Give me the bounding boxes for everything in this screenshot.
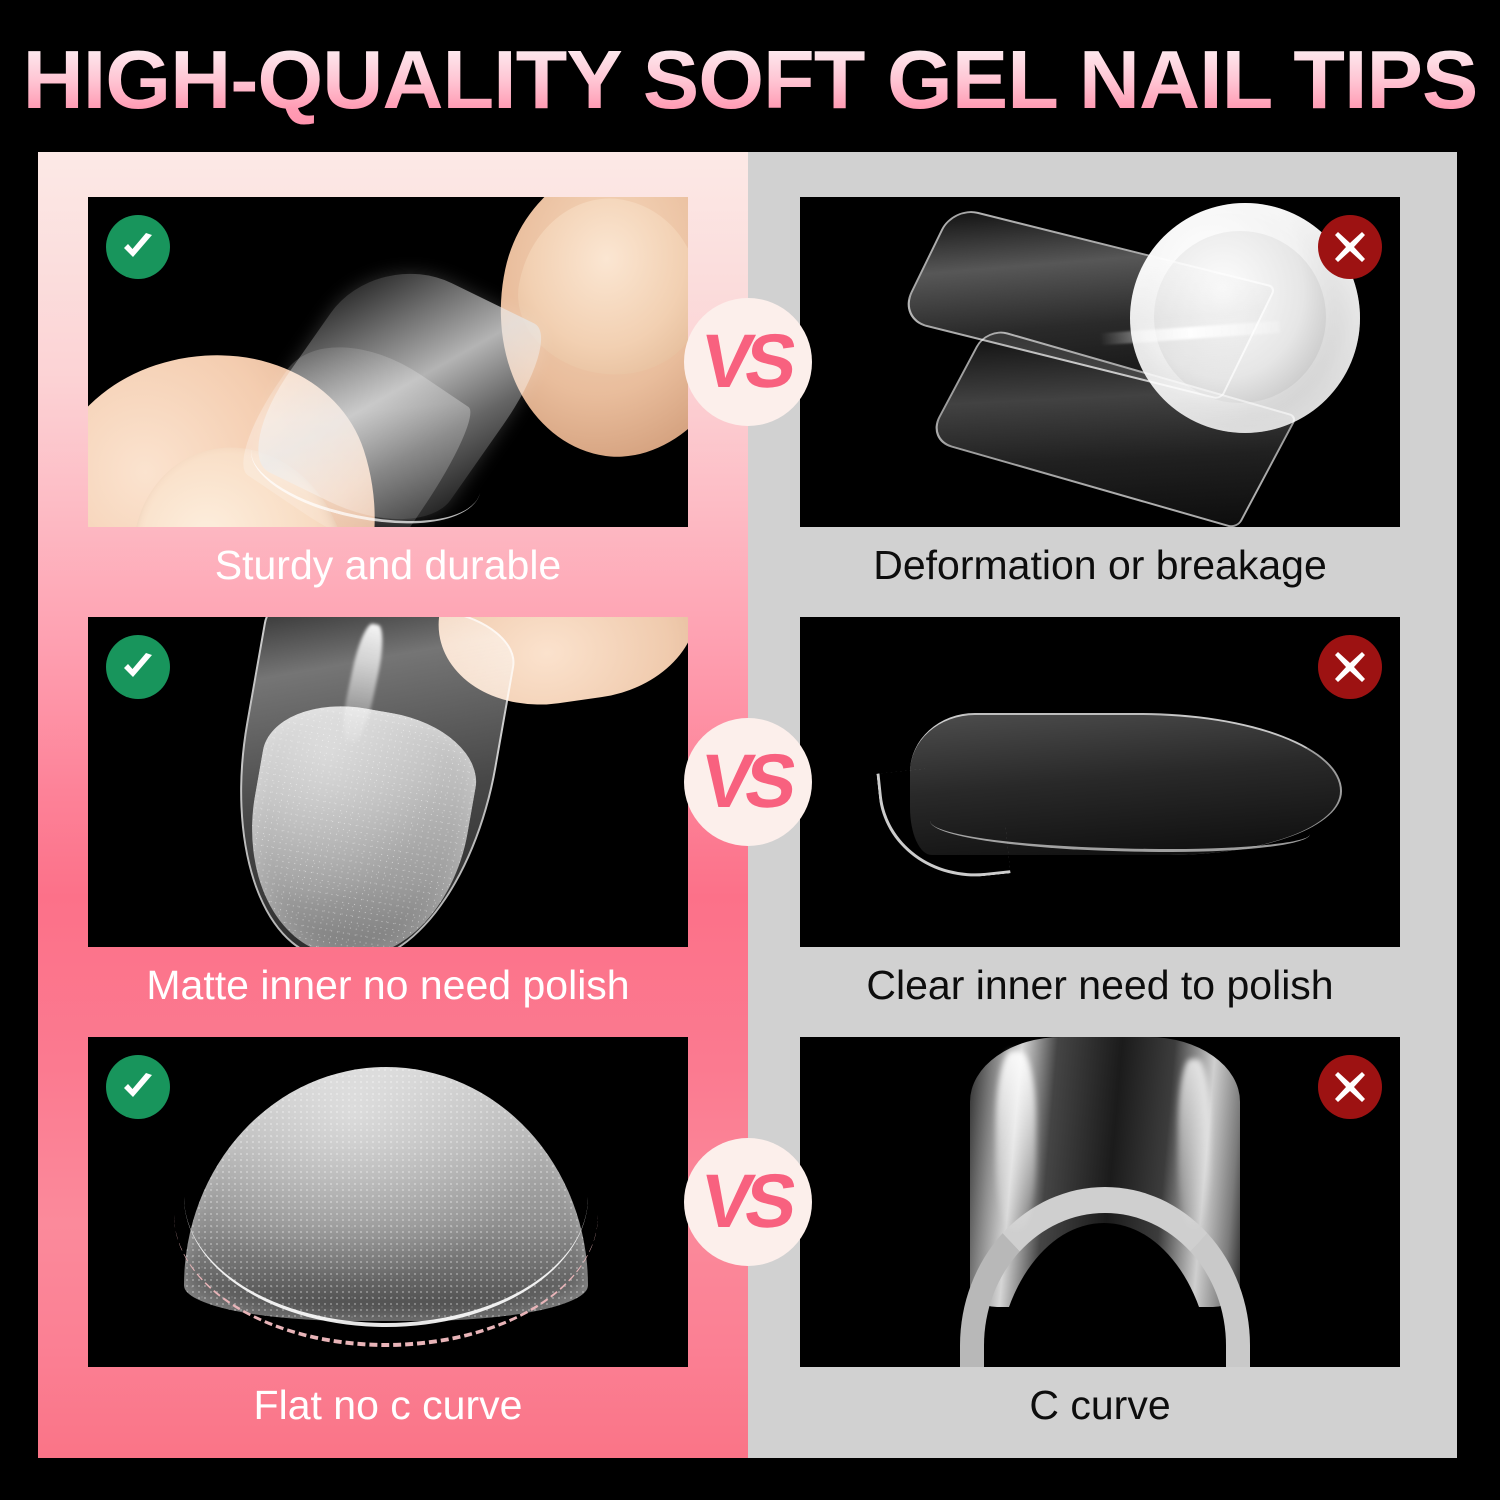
cross-icon [1318, 215, 1382, 279]
photo-art [88, 197, 688, 527]
vs-label: VS [697, 744, 799, 820]
comparison-cell-good-3: Flat no c curve [88, 1037, 688, 1457]
caption-good-1: Sturdy and durable [48, 541, 728, 589]
photo-sturdy-and-durable [88, 197, 688, 527]
photo-art [800, 197, 1400, 527]
photo-flat-no-c-curve [88, 1037, 688, 1367]
photo-matte-inner-no-need-polish [88, 617, 688, 947]
caption-bad-1: Deformation or breakage [760, 541, 1440, 589]
photo-deformation-or-breakage [800, 197, 1400, 527]
check-icon [106, 635, 170, 699]
comparison-cell-bad-1: Deformation or breakage [800, 197, 1400, 617]
check-icon [106, 215, 170, 279]
photo-art [800, 617, 1400, 947]
vs-label: VS [697, 1164, 799, 1240]
caption-bad-2: Clear inner need to polish [760, 961, 1440, 1009]
check-icon [106, 1055, 170, 1119]
page-title: HIGH-QUALITY SOFT GEL NAIL TIPS [0, 30, 1500, 130]
comparison-cell-bad-3: C curve [800, 1037, 1400, 1457]
cross-icon [1318, 635, 1382, 699]
vs-label: VS [697, 324, 799, 400]
vs-badge-1: VS [684, 298, 812, 426]
vs-badge-3: VS [684, 1138, 812, 1266]
comparison-cell-good-2: Matte inner no need polish [88, 617, 688, 1037]
infographic-canvas: HIGH-QUALITY SOFT GEL NAIL TIPS Sturdy a… [0, 0, 1500, 1500]
vs-badge-2: VS [684, 718, 812, 846]
caption-good-3: Flat no c curve [48, 1381, 728, 1429]
c-curve-gloss-left [996, 1051, 1036, 1231]
photo-c-curve [800, 1037, 1400, 1367]
dashed-guide-line [174, 1215, 598, 1347]
photo-art [88, 617, 688, 947]
caption-good-2: Matte inner no need polish [48, 961, 728, 1009]
cross-icon [1318, 1055, 1382, 1119]
photo-art [800, 1037, 1400, 1367]
comparison-cell-bad-2: Clear inner need to polish [800, 617, 1400, 1037]
c-curve-gloss-right [1178, 1059, 1210, 1229]
caption-bad-3: C curve [760, 1381, 1440, 1429]
photo-art [88, 1037, 688, 1367]
photo-clear-inner-need-to-polish [800, 617, 1400, 947]
comparison-cell-good-1: Sturdy and durable [88, 197, 688, 617]
